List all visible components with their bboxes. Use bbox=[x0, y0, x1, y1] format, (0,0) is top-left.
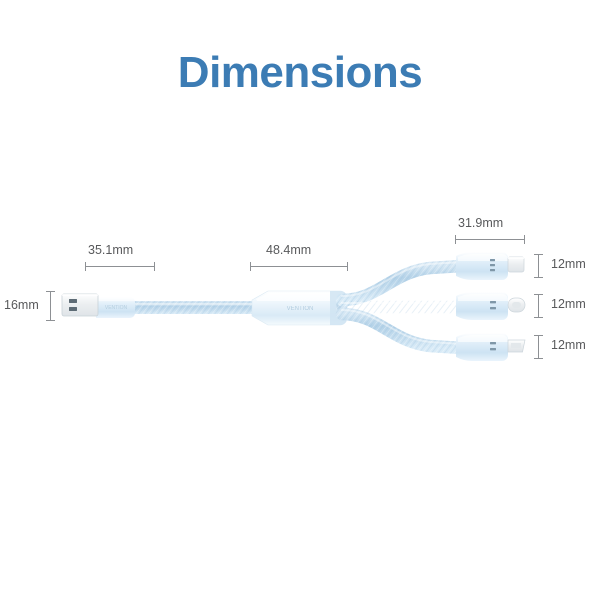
dimension-line-lightning-width bbox=[534, 254, 543, 278]
svg-text:VENTION: VENTION bbox=[105, 305, 128, 311]
dimension-cap-right bbox=[524, 235, 525, 244]
dimension-label-hub-length: 48.4mm bbox=[266, 243, 311, 257]
dimension-bar bbox=[85, 266, 155, 267]
dimension-cap-right bbox=[154, 262, 155, 271]
dimension-cap-left bbox=[250, 262, 251, 271]
dimension-label-usb-c-width: 12mm bbox=[551, 297, 586, 311]
connector-usb-c bbox=[456, 292, 525, 320]
dimension-cap-bottom bbox=[534, 358, 543, 359]
dimension-cap-top bbox=[534, 335, 543, 336]
dimension-line-micro-usb-width bbox=[534, 335, 543, 359]
cable-branch-top bbox=[342, 262, 462, 300]
dimension-cap-right bbox=[347, 262, 348, 271]
connector-lightning bbox=[456, 252, 524, 280]
hub-brand-text: VENTION bbox=[287, 306, 314, 312]
dimension-cap-bottom bbox=[46, 320, 55, 321]
cable-branch-bottom bbox=[342, 310, 462, 348]
dimension-bar bbox=[250, 266, 348, 267]
connector-micro-usb bbox=[456, 333, 525, 361]
dimension-cap-top bbox=[534, 254, 543, 255]
dimension-cap-left bbox=[85, 262, 86, 271]
dimension-cap-top bbox=[534, 294, 543, 295]
cable-trunk bbox=[128, 301, 258, 314]
dimension-label-lightning-length: 31.9mm bbox=[458, 216, 503, 230]
dimension-cap-left bbox=[455, 235, 456, 244]
dimensions-diagram: Dimensions bbox=[0, 0, 600, 600]
dimension-cap-top bbox=[46, 291, 55, 292]
dimension-line-usb-a-width bbox=[46, 291, 55, 321]
product-illustration: VENTION VENTION bbox=[0, 0, 600, 600]
dimension-label-micro-usb-width: 12mm bbox=[551, 338, 586, 352]
dimension-bar bbox=[50, 291, 51, 321]
dimension-line-usb-c-width bbox=[534, 294, 543, 318]
dimension-cap-bottom bbox=[534, 317, 543, 318]
dimension-bar bbox=[538, 294, 539, 318]
splitter-hub: VENTION bbox=[252, 291, 347, 325]
connector-usb-a: VENTION bbox=[62, 294, 136, 318]
dimension-bar bbox=[455, 239, 525, 240]
dimension-label-usb-a-length: 35.1mm bbox=[88, 243, 133, 257]
dimension-line-usb-a-length bbox=[85, 262, 155, 271]
dimension-bar bbox=[538, 254, 539, 278]
cable-branch-middle bbox=[342, 303, 464, 307]
dimension-label-usb-a-width: 16mm bbox=[4, 298, 39, 312]
dimension-bar bbox=[538, 335, 539, 359]
dimension-line-lightning-length bbox=[455, 235, 525, 244]
dimension-cap-bottom bbox=[534, 277, 543, 278]
dimension-line-hub-length bbox=[250, 262, 348, 271]
dimension-label-lightning-width: 12mm bbox=[551, 257, 586, 271]
